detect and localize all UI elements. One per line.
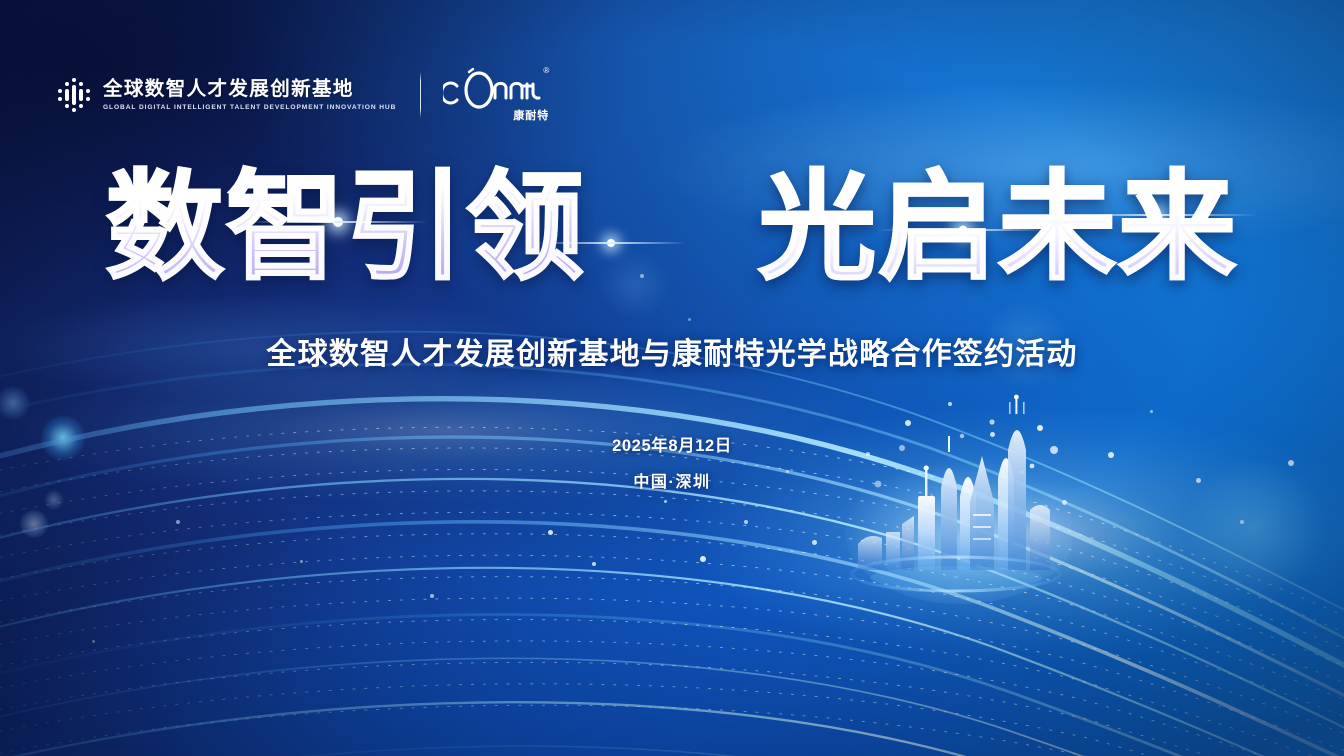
event-keyvisual-poster: 全球数智人才发展创新基地 GLOBAL DIGITAL INTELLIGENT … <box>0 0 1344 756</box>
logo-divider <box>420 72 421 118</box>
header-logos: 全球数智人才发展创新基地 GLOBAL DIGITAL INTELLIGENT … <box>58 66 551 124</box>
event-date: 2025年8月12日 <box>0 432 1344 456</box>
hub-logo-text: 全球数智人才发展创新基地 GLOBAL DIGITAL INTELLIGENT … <box>103 79 396 111</box>
registered-trademark-icon: ® <box>543 66 549 75</box>
bokeh-orb <box>44 490 64 510</box>
headline-part-2: 光启未来 <box>758 158 1238 296</box>
headline-part-1: 数智引领 <box>106 158 586 296</box>
event-meta: 2025年8月12日 中国·深圳 <box>0 432 1344 492</box>
conant-logo: ® 康耐特 <box>443 66 551 124</box>
bokeh-orb <box>0 386 30 420</box>
bokeh-orb <box>20 510 48 538</box>
hero-subtitle: 全球数智人才发展创新基地与康耐特光学战略合作签约活动 <box>0 329 1344 373</box>
event-location: 中国·深圳 <box>0 468 1344 492</box>
conant-name-cn: 康耐特 <box>513 107 549 123</box>
city-skyline-illustration <box>842 392 1072 607</box>
dot-matrix-logo-icon <box>58 78 92 112</box>
hub-name-cn: 全球数智人才发展创新基地 <box>103 79 396 99</box>
hub-name-en: GLOBAL DIGITAL INTELLIGENT TALENT DEVELO… <box>103 104 396 111</box>
headline-segment-2: 光启未来 <box>758 168 1238 286</box>
hero-headline: 数智引领 光启未来 <box>0 168 1344 286</box>
headline-segment-1: 数智引领 <box>106 168 586 286</box>
